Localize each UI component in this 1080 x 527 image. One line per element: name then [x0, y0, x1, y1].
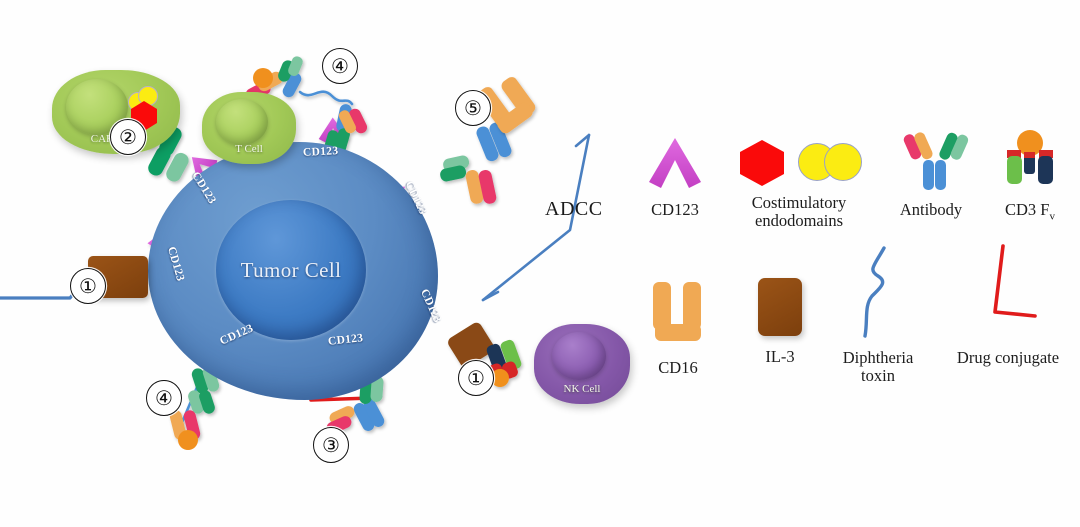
tumor-cell-label: Tumor Cell — [241, 258, 342, 283]
nk-cell-label: NK Cell — [534, 383, 630, 395]
t-cell-top-nucleus — [216, 99, 268, 145]
legend-panel: CD123 Costimulatory endodomains Antib — [620, 130, 1080, 430]
legend-label-cd16: CD16 — [626, 359, 730, 377]
legend-label-cd3fv-main: CD3 F — [1005, 200, 1049, 219]
legend-item-cd3fv: CD3 Fv — [978, 130, 1080, 223]
cd123-surface-label: CD123 — [303, 145, 339, 159]
t-cell-top: T Cell — [202, 92, 296, 164]
lshape-icon — [973, 244, 1043, 340]
marker-3: ③ — [313, 427, 349, 463]
legend-label-il3: IL-3 — [728, 348, 832, 366]
legend-item-costimulatory: Costimulatory endodomains — [724, 132, 874, 231]
chevron-icon — [643, 130, 707, 190]
nk-cell: NK Cell — [534, 324, 630, 404]
marker-5: ⑤ — [455, 90, 491, 126]
marker-4-bottom: ④ — [146, 380, 182, 416]
marker-4-top: ④ — [322, 48, 358, 84]
tumor-cell-nucleus: Tumor Cell — [216, 200, 366, 340]
antibody-icon — [885, 130, 977, 192]
legend-item-cd123: CD123 — [620, 130, 730, 219]
cd3fv-icon — [997, 130, 1063, 192]
cd3-anchor-icon — [253, 68, 273, 88]
legend-label-diphtheria-toxin: Diphtheria toxin — [818, 349, 938, 386]
t-cell-top-label: T Cell — [202, 143, 296, 155]
legend-label-antibody: Antibody — [872, 201, 990, 219]
hexagon-icon — [736, 138, 788, 186]
cd3-anchor-icon — [178, 430, 198, 450]
legend-label-cd3fv: CD3 Fv — [978, 201, 1080, 223]
legend-item-cd16: CD16 — [626, 278, 730, 377]
diagram-canvas: Tumor Cell CD123 CD123 CD123 CD123 CD123… — [0, 0, 1080, 527]
legend-item-il3: IL-3 — [728, 278, 832, 366]
il3-icon — [758, 278, 802, 336]
adcc-label: ADCC — [545, 198, 603, 221]
nk-cell-nucleus — [552, 332, 606, 380]
marker-1-left: ① — [70, 268, 106, 304]
legend-item-antibody: Antibody — [872, 130, 990, 219]
legend-label-costimulatory: Costimulatory endodomains — [724, 194, 874, 231]
legend-label-drug-conjugate: Drug conjugate — [932, 349, 1080, 367]
legend-label-cd3fv-sub: v — [1049, 210, 1055, 222]
zigzag-icon — [848, 244, 908, 340]
adcc-antibody — [439, 121, 513, 205]
marker-2: ② — [110, 119, 146, 155]
legend-item-diphtheria-toxin: Diphtheria toxin — [818, 244, 938, 386]
cd16-icon — [643, 278, 713, 346]
costimulatory-circle-icon — [824, 143, 862, 181]
legend-label-cd123: CD123 — [620, 201, 730, 219]
legend-item-drug-conjugate: Drug conjugate — [932, 244, 1080, 367]
marker-1-right: ① — [458, 360, 494, 396]
